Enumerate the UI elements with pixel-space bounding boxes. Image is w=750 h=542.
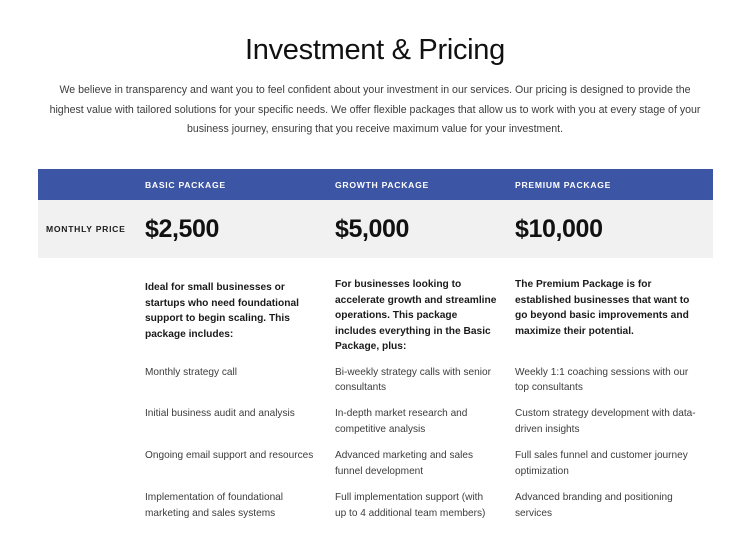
header-cell-basic: BASIC PACKAGE	[143, 180, 333, 190]
table-row: Initial business audit and analysis In-d…	[38, 396, 713, 438]
package-description-growth: For businesses looking to accelerate gro…	[333, 277, 513, 355]
feature-cell-premium: Full sales funnel and customer journey o…	[513, 448, 713, 480]
feature-cell-basic: Initial business audit and analysis	[143, 406, 333, 422]
table-row: Monthly strategy call Bi-weekly strategy…	[38, 355, 713, 397]
feature-cell-premium: Custom strategy development with data-dr…	[513, 406, 713, 438]
price-value-premium: $10,000	[513, 217, 713, 242]
price-value-growth: $5,000	[333, 217, 513, 242]
monthly-price-label: MONTHLY PRICE	[38, 224, 143, 234]
feature-cell-growth: Full implementation support (with up to …	[333, 490, 513, 522]
package-description-premium: The Premium Package is for established b…	[513, 277, 713, 339]
feature-cell-basic: Monthly strategy call	[143, 365, 333, 381]
feature-cell-growth: Advanced marketing and sales funnel deve…	[333, 448, 513, 480]
monthly-price-row: MONTHLY PRICE $2,500 $5,000 $10,000	[38, 200, 713, 258]
feature-cell-growth: Bi-weekly strategy calls with senior con…	[333, 365, 513, 397]
intro-paragraph: We believe in transparency and want you …	[49, 81, 701, 139]
price-value-basic: $2,500	[143, 217, 333, 242]
feature-cell-basic: Ongoing email support and resources	[143, 448, 333, 464]
feature-cell-basic: Implementation of foundational marketing…	[143, 490, 333, 522]
pricing-page: Investment & Pricing We believe in trans…	[0, 0, 750, 542]
header-cell-premium: PREMIUM PACKAGE	[513, 180, 713, 190]
pricing-table: BASIC PACKAGE GROWTH PACKAGE PREMIUM PAC…	[38, 169, 713, 526]
package-description-row: Ideal for small businesses or startups w…	[38, 258, 713, 355]
table-row: Ongoing email support and resources Adva…	[38, 438, 713, 480]
feature-cell-growth: In-depth market research and competitive…	[333, 406, 513, 438]
page-header: Investment & Pricing We believe in trans…	[0, 0, 750, 139]
table-row: Implementation of foundational marketing…	[38, 480, 713, 526]
header-cell-growth: GROWTH PACKAGE	[333, 180, 513, 190]
table-header-row: BASIC PACKAGE GROWTH PACKAGE PREMIUM PAC…	[38, 169, 713, 200]
feature-cell-premium: Advanced branding and positioning servic…	[513, 490, 713, 522]
feature-cell-premium: Weekly 1:1 coaching sessions with our to…	[513, 365, 713, 397]
package-description-basic: Ideal for small businesses or startups w…	[143, 277, 333, 342]
page-title: Investment & Pricing	[0, 34, 750, 67]
